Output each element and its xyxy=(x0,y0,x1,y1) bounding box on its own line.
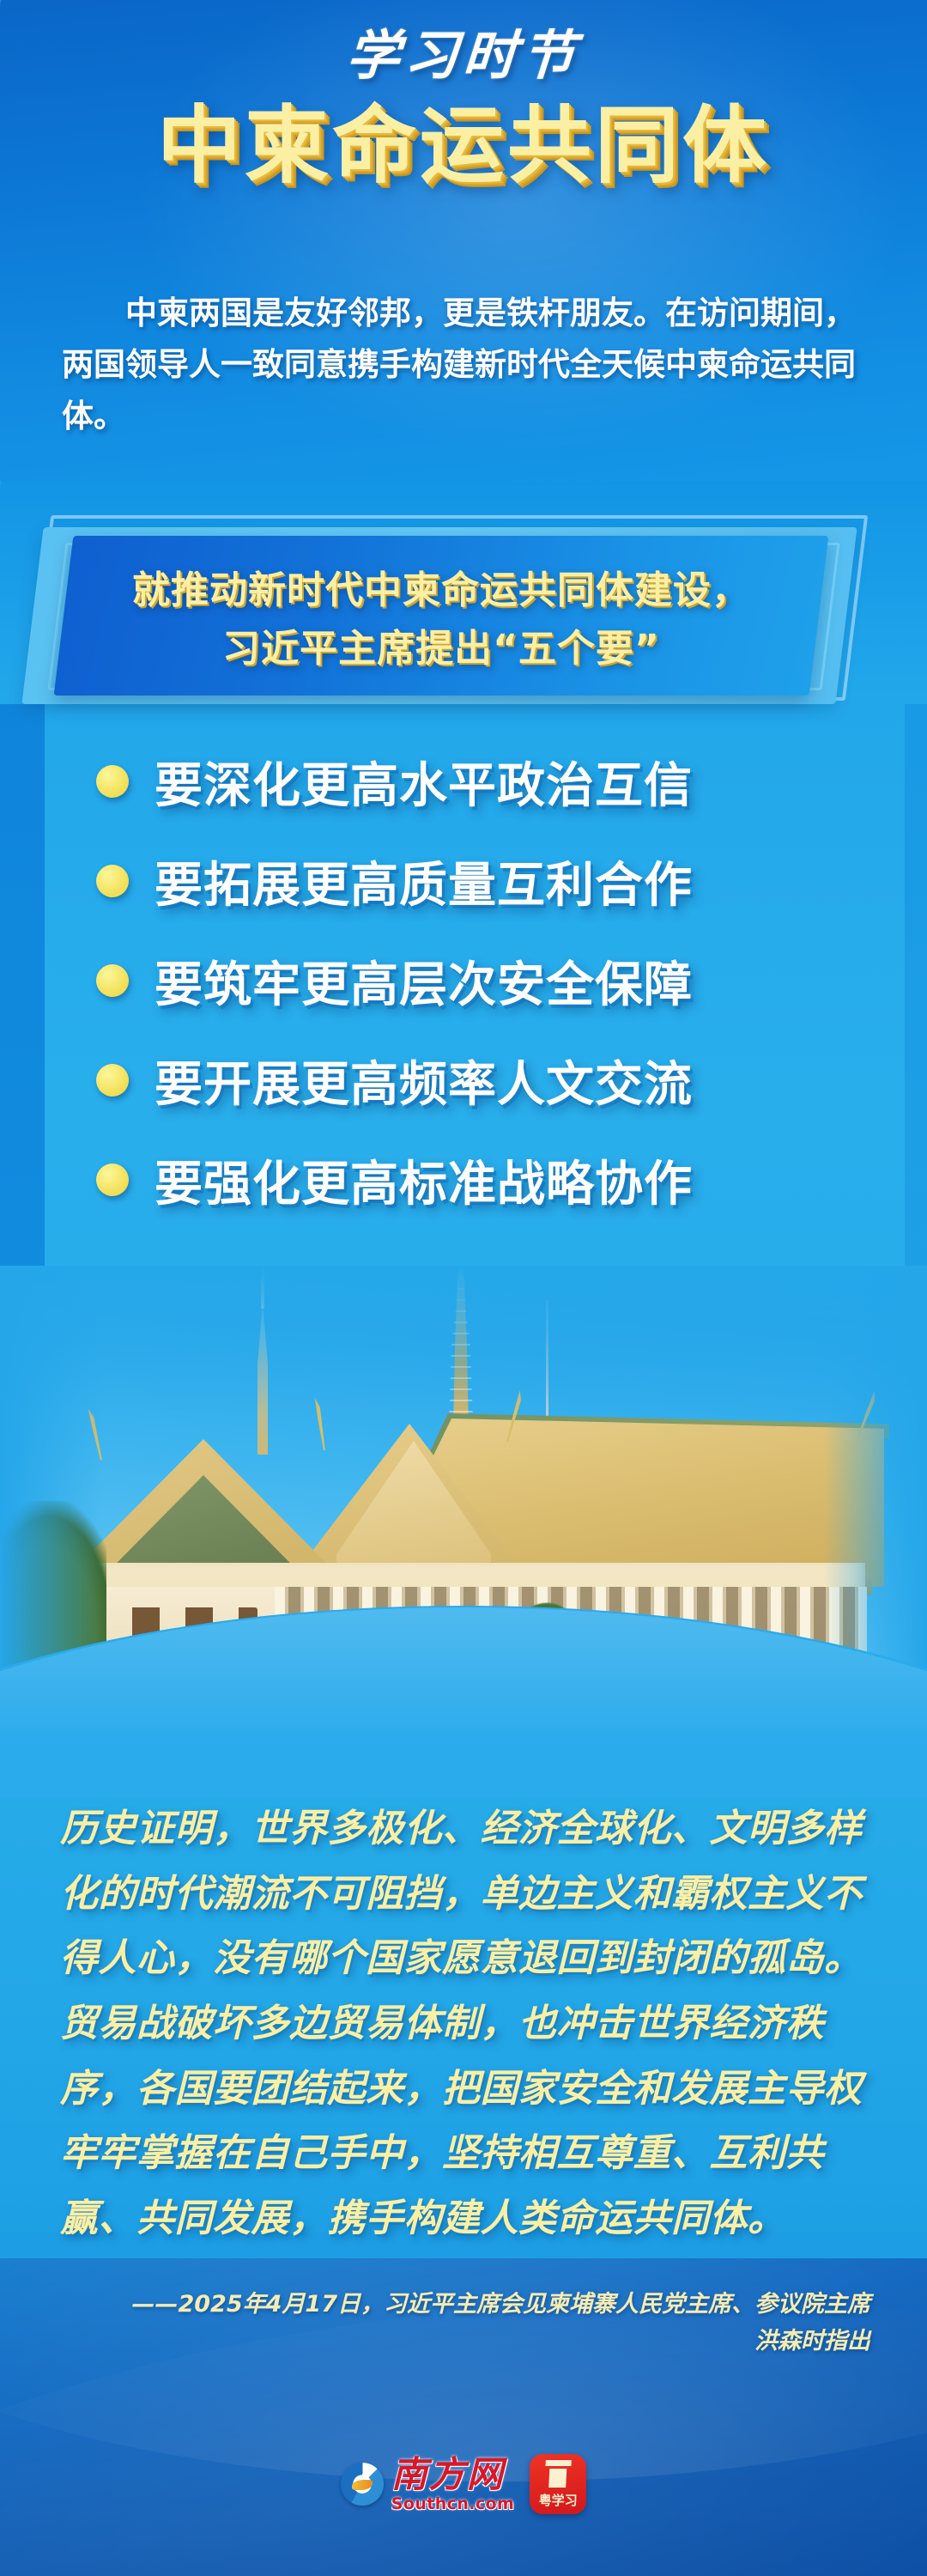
southcn-mark-icon xyxy=(341,2463,384,2506)
southcn-name-en: Southcn.com xyxy=(391,2496,514,2512)
footer-logos: 南方网 Southcn.com 粤学习 xyxy=(0,2454,927,2514)
intro-paragraph: 中柬两国是友好邻邦，更是铁杆朋友。在访问期间，两国领导人一致同意携手构建新时代全… xyxy=(62,288,872,442)
banner-line-1: 就推动新时代中柬命运共同体建设， xyxy=(132,559,750,614)
bullet-dot-icon xyxy=(96,964,129,997)
bullet-dot-icon xyxy=(96,765,129,798)
quote-text: 历史证明，世界多极化、经济全球化、文明多样化的时代潮流不可阻挡，单边主义和霸权主… xyxy=(60,1796,870,2251)
list-item-label: 要筑牢更高层次安全保障 xyxy=(154,946,693,1016)
yuexuexi-glyph-icon xyxy=(544,2460,572,2488)
southcn-name-cn: 南方网 xyxy=(391,2457,505,2493)
list-item: 要筑牢更高层次安全保障 xyxy=(45,931,882,1030)
list-item-label: 要拓展更高质量互利合作 xyxy=(154,847,693,916)
banner-text-block: 就推动新时代中柬命运共同体建设， 习近平主席提出“五个要” xyxy=(64,536,819,696)
page-title: 中柬命运共同体 xyxy=(0,77,927,199)
right-gutter-strip xyxy=(905,704,927,1305)
key-points-list: 要深化更高水平政治互信 要拓展更高质量互利合作 要筑牢更高层次安全保障 要开展更… xyxy=(45,732,882,1230)
section-banner: 就推动新时代中柬命运共同体建设， 习近平主席提出“五个要” xyxy=(0,512,927,714)
list-item: 要深化更高水平政治互信 xyxy=(45,732,882,831)
bullet-dot-icon xyxy=(96,1163,129,1196)
bullet-dot-icon xyxy=(96,865,129,897)
bullet-dot-icon xyxy=(96,1064,129,1097)
list-item-label: 要强化更高标准战略协作 xyxy=(154,1145,693,1215)
southcn-logo[interactable]: 南方网 Southcn.com xyxy=(341,2457,514,2512)
photo-curve-highlight xyxy=(0,1607,927,1798)
yuexuexi-label: 粤学习 xyxy=(539,2491,578,2509)
quote-attribution: ——2025年4月17日，习近平主席会见柬埔寨人民党主席、参议院主席洪森时指出 xyxy=(129,2286,870,2360)
left-gutter-strip xyxy=(0,704,45,1305)
list-item: 要强化更高标准战略协作 xyxy=(45,1130,882,1230)
list-item: 要拓展更高质量互利合作 xyxy=(45,831,882,931)
list-item-label: 要深化更高水平政治互信 xyxy=(154,747,693,817)
list-item: 要开展更高频率人文交流 xyxy=(45,1030,882,1130)
list-item-label: 要开展更高频率人文交流 xyxy=(154,1046,693,1115)
yuexuexi-app-logo[interactable]: 粤学习 xyxy=(530,2454,586,2514)
southcn-wordmark: 南方网 Southcn.com xyxy=(391,2457,514,2512)
page-title-text: 中柬命运共同体 xyxy=(157,77,770,199)
poster-canvas: 学习时节 中柬命运共同体 中柬两国是友好邻邦，更是铁杆朋友。在访问期间，两国领导… xyxy=(0,0,927,2576)
banner-line-2: 习近平主席提出“五个要” xyxy=(222,617,660,672)
photo-top-fade xyxy=(0,1266,927,1412)
palace-photo xyxy=(0,1266,927,1798)
